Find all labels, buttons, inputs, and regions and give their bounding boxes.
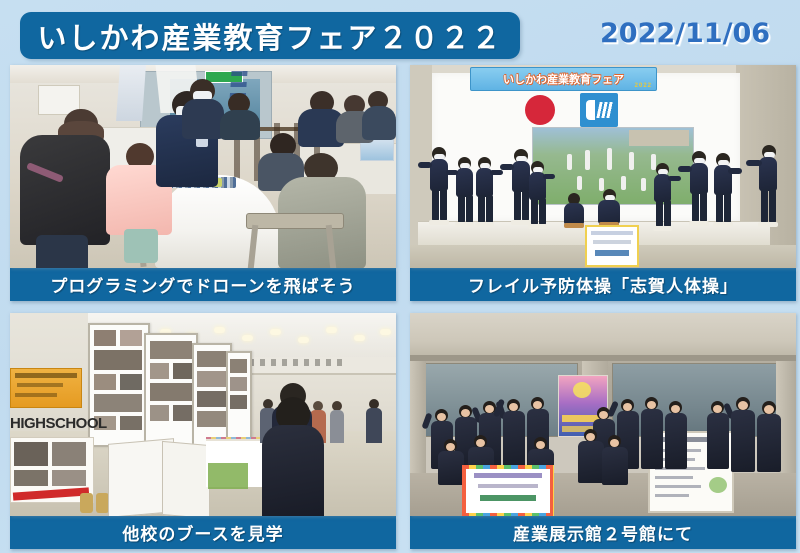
arm	[500, 164, 514, 170]
panel-photo	[197, 391, 226, 407]
highschool-label: HIGHSCHOOL	[10, 415, 107, 432]
screen-figure	[577, 176, 582, 190]
torso	[262, 425, 324, 516]
photo-3-upper-deck	[228, 357, 396, 375]
photo-3-visitor-far-3	[330, 401, 344, 443]
panel-photo	[150, 383, 192, 401]
face	[485, 405, 494, 413]
panel-photo	[197, 371, 226, 387]
organization-logo-icon	[580, 93, 618, 127]
shoes	[689, 221, 709, 226]
uniform	[731, 410, 755, 472]
photo-2-performer-seated-1	[562, 193, 586, 231]
torso	[690, 163, 708, 194]
torso	[362, 106, 396, 140]
panel-photo	[173, 405, 192, 421]
ceiling-light-icon	[326, 327, 337, 333]
photo-3-display-panel-4	[226, 351, 252, 447]
panel-photo	[230, 395, 247, 409]
photo-2-image: いしかわ産業教育フェア 2022	[410, 65, 796, 268]
photo-4-student-back-4	[502, 399, 526, 471]
arm	[490, 170, 503, 175]
photo-1-person-back-1	[182, 79, 224, 135]
ceiling-light-icon	[270, 329, 281, 335]
face	[461, 409, 470, 417]
uniform	[578, 441, 604, 483]
photo-4-colorful-sign	[462, 465, 554, 516]
legs	[124, 229, 158, 263]
arm	[418, 162, 432, 168]
arm	[746, 160, 762, 166]
photo-1-person-back-2	[220, 93, 260, 135]
photo-1-person-visitor-khaki	[278, 153, 366, 268]
leg	[531, 198, 538, 225]
slide-date: 2022/11/06	[600, 18, 770, 49]
leg	[664, 200, 671, 227]
arm	[678, 166, 692, 172]
torso	[220, 110, 260, 140]
leg	[514, 190, 521, 221]
face	[599, 411, 608, 419]
photo-4-student-back-10	[706, 401, 730, 471]
board-line	[655, 476, 693, 479]
leg	[478, 195, 485, 223]
screen-figure	[629, 152, 634, 170]
ceiling-light-icon	[242, 335, 253, 341]
leg	[769, 189, 776, 223]
ceiling-light-icon	[354, 335, 365, 341]
photo-3-viewer-front	[260, 397, 324, 516]
face	[536, 441, 545, 449]
screen-figure	[607, 148, 612, 170]
photo-2-caption-bar: フレイル予防体操「志賀人体操」	[410, 268, 796, 301]
poster-ring	[573, 382, 591, 398]
uniform	[641, 409, 663, 469]
photo-2-banner-year: 2022	[635, 83, 652, 89]
arm	[446, 170, 458, 175]
photo-1-vertical-banner	[116, 65, 146, 121]
poster-photo	[14, 442, 48, 466]
photo-4-student-back-11	[730, 397, 756, 473]
leg	[486, 195, 493, 223]
screen-figure	[585, 150, 590, 170]
leg	[656, 200, 663, 227]
banner-line-2	[17, 383, 63, 387]
screen-figure	[567, 154, 572, 170]
torso	[430, 159, 448, 191]
slide-canvas: いしかわ産業教育フェア２０２２ 2022/11/06	[0, 0, 800, 553]
photo-3-highschool-text: HIGHSCHOOL	[10, 413, 88, 433]
photo-3-caption-bar: 他校のブースを見学	[10, 516, 396, 549]
face	[610, 439, 619, 447]
photo-1-person-visitor-standing	[18, 107, 110, 268]
photo-2-performer-5	[524, 161, 552, 231]
face	[533, 401, 542, 409]
photo-3-school-banner	[10, 368, 82, 408]
panel-photo	[94, 330, 116, 346]
shoes	[653, 226, 672, 231]
torso	[20, 135, 110, 245]
leg	[692, 192, 699, 222]
panel-photo	[120, 374, 142, 390]
photo-1-caption-bar: プログラミングでドローンを飛ばそう	[10, 268, 396, 301]
banner-line-3	[15, 393, 57, 397]
panel-photo	[120, 416, 142, 430]
photo-2-performer-8	[708, 153, 738, 231]
photo-4-column-left	[410, 361, 426, 473]
leg	[761, 189, 768, 223]
face	[586, 433, 595, 441]
slide-title-box: いしかわ産業教育フェア２０２２	[20, 12, 520, 59]
face	[764, 405, 774, 414]
photo-3-display-panel-2	[144, 333, 198, 447]
photo-4-caption-text: 産業展示館２号館にて	[513, 520, 693, 545]
photo-4-image	[410, 313, 796, 516]
panel-photo	[120, 330, 142, 346]
board-illustration	[709, 477, 727, 493]
screen-figure	[621, 176, 626, 190]
sign-line-3	[480, 495, 536, 501]
photo-4-student-front-5	[602, 435, 628, 487]
shoes	[429, 220, 449, 225]
shoes	[758, 222, 778, 227]
shoes	[475, 222, 494, 227]
photo-card-2: いしかわ産業教育フェア 2022	[410, 65, 796, 301]
japan-flag-icon	[525, 95, 555, 125]
arm	[668, 176, 681, 181]
torso	[182, 99, 224, 139]
photo-1-caption-text: プログラミングでドローンを飛ばそう	[50, 272, 355, 297]
leg	[432, 189, 439, 221]
leg	[458, 195, 465, 223]
panel-photo	[150, 363, 169, 379]
panel-photo	[230, 377, 247, 391]
jar	[80, 493, 93, 513]
leg	[700, 192, 707, 222]
uniform	[707, 413, 729, 469]
leg	[716, 193, 723, 223]
leg	[440, 189, 447, 221]
photo-2-banner-text: いしかわ産業教育フェア	[503, 71, 624, 87]
shoes	[713, 222, 733, 227]
photo-4-building-upper	[410, 313, 796, 361]
screen-figure	[641, 178, 646, 191]
face	[623, 403, 632, 411]
ceiling-light-icon	[380, 329, 391, 335]
uniform	[602, 447, 628, 485]
photo-2-performer-6	[648, 163, 678, 233]
face	[713, 405, 722, 413]
photo-card-3: HIGHSCHOOL	[10, 313, 396, 549]
page-title: いしかわ産業教育フェア２０２２	[37, 15, 502, 57]
shoes	[528, 224, 547, 229]
panel-photo	[150, 405, 169, 421]
torso	[598, 200, 620, 224]
uniform	[438, 451, 464, 485]
sign-line-2	[593, 240, 631, 244]
board-line	[655, 485, 701, 488]
leg	[724, 193, 731, 223]
photo-card-1: プログラミングでドローンを飛ばそう	[10, 65, 396, 301]
body	[330, 410, 344, 443]
panel-photo	[197, 411, 226, 427]
torso	[564, 203, 584, 225]
legs	[36, 235, 88, 268]
photo-4-student-back-12	[756, 401, 782, 473]
board-line	[655, 494, 689, 497]
sign-line-1	[474, 473, 542, 478]
photo-2-event-banner: いしかわ産業教育フェア 2022	[470, 67, 657, 91]
photo-2-performer-9	[754, 145, 784, 231]
poster-photo	[14, 470, 48, 486]
uniform	[503, 411, 525, 469]
face	[647, 401, 656, 409]
banner-line-1	[15, 373, 77, 378]
panel-photo	[173, 363, 192, 379]
panel-photo	[230, 359, 247, 373]
panel-photo	[94, 350, 142, 370]
screen-building	[629, 130, 689, 146]
photo-4-student-front-1	[438, 439, 464, 487]
shoes	[564, 223, 584, 228]
face	[738, 401, 748, 410]
photo-4-student-back-8	[640, 397, 664, 471]
body	[366, 408, 382, 443]
face	[509, 403, 518, 411]
photo-3-visitor-far-4	[366, 399, 382, 443]
photo-3-leaning-board-2	[162, 441, 210, 516]
photo-2-floor-sign	[585, 225, 639, 267]
photo-1-image	[10, 65, 396, 268]
panel-photo	[94, 394, 142, 412]
uniform	[757, 414, 781, 472]
photo-3-caption-text: 他校のブースを見学	[122, 520, 283, 545]
panel-photo	[150, 341, 192, 359]
uniform	[665, 413, 687, 469]
panel-photo	[197, 351, 226, 367]
sign-line-2	[478, 484, 538, 488]
panel-photo	[94, 374, 116, 390]
poster-red-bar	[13, 487, 89, 500]
photo-4-caption-bar: 産業展示館２号館にて	[410, 516, 796, 549]
leg	[539, 198, 546, 225]
sign-line-1	[591, 231, 633, 235]
photo-2-performer-3	[470, 157, 500, 229]
photo-3-green-cart	[208, 463, 248, 489]
ceiling-light-icon	[298, 337, 309, 343]
photo-card-4: 産業展示館２号館にて	[410, 313, 796, 549]
photo-1-person-far-3	[362, 91, 396, 137]
face	[437, 413, 446, 421]
face	[671, 405, 680, 413]
arm	[728, 168, 742, 174]
face	[476, 439, 485, 447]
ceiling-light-icon	[214, 327, 225, 333]
photo-4-student-front-4	[578, 429, 604, 485]
poster-photo	[52, 442, 86, 466]
sign-line-3	[595, 250, 629, 256]
photo-2-caption-text: フレイル予防体操「志賀人体操」	[468, 272, 738, 297]
face	[446, 443, 455, 451]
photo-3-image: HIGHSCHOOL	[10, 313, 396, 516]
arm	[543, 174, 555, 179]
photo-4-student-back-9	[664, 401, 688, 471]
